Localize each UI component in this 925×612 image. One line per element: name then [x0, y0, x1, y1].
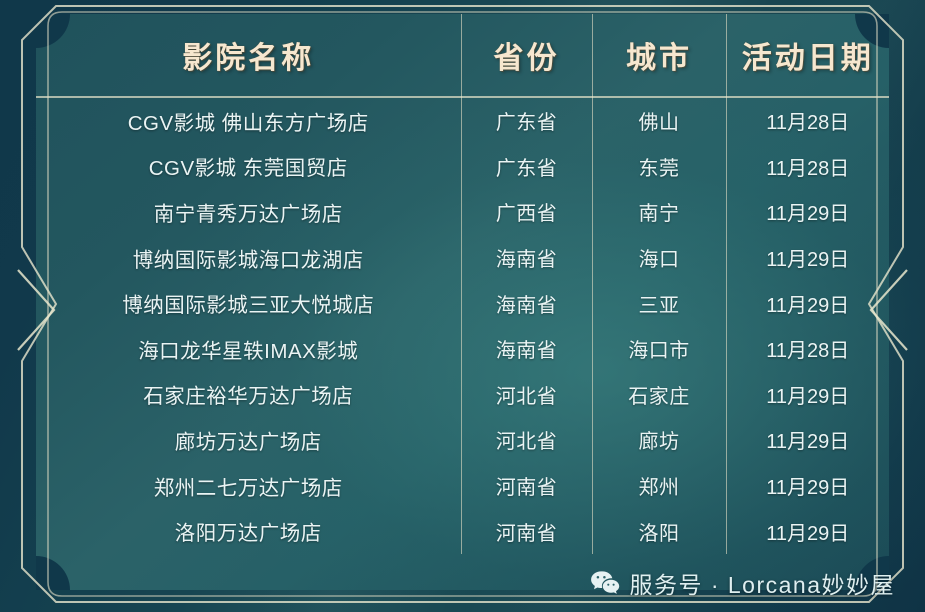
cell-city: 海口	[592, 235, 726, 281]
cell-city: 郑州	[592, 463, 726, 509]
table-row: 博纳国际影城三亚大悦城店 海南省 三亚 11月29日	[36, 280, 889, 326]
cell-province: 广东省	[461, 144, 592, 190]
table-row: 南宁青秀万达广场店 广西省 南宁 11月29日	[36, 189, 889, 235]
cell-city: 海口市	[592, 326, 726, 372]
table-row: 廊坊万达广场店 河北省 廊坊 11月29日	[36, 417, 889, 463]
cell-city: 洛阳	[592, 508, 726, 554]
cell-province: 海南省	[461, 326, 592, 372]
cell-cinema-name: 博纳国际影城三亚大悦城店	[36, 280, 461, 326]
table-header: 影院名称 省份 城市 活动日期	[36, 14, 889, 97]
cell-city: 佛山	[592, 97, 726, 144]
cell-cinema-name: CGV影城 东莞国贸店	[36, 144, 461, 190]
cell-province: 河北省	[461, 417, 592, 463]
cell-event-date: 11月29日	[726, 235, 889, 281]
cell-cinema-name: 洛阳万达广场店	[36, 508, 461, 554]
column-header-city: 城市	[592, 14, 726, 97]
cell-province: 海南省	[461, 235, 592, 281]
table-row: 石家庄裕华万达广场店 河北省 石家庄 11月29日	[36, 372, 889, 418]
table-row: 郑州二七万达广场店 河南省 郑州 11月29日	[36, 463, 889, 509]
cell-cinema-name: 廊坊万达广场店	[36, 417, 461, 463]
table-row: 博纳国际影城海口龙湖店 海南省 海口 11月29日	[36, 235, 889, 281]
cell-event-date: 11月28日	[726, 326, 889, 372]
cell-event-date: 11月29日	[726, 463, 889, 509]
table-header-row: 影院名称 省份 城市 活动日期	[36, 14, 889, 97]
cell-event-date: 11月29日	[726, 417, 889, 463]
cell-city: 东莞	[592, 144, 726, 190]
cell-cinema-name: CGV影城 佛山东方广场店	[36, 97, 461, 144]
cell-event-date: 11月28日	[726, 144, 889, 190]
cell-cinema-name: 南宁青秀万达广场店	[36, 189, 461, 235]
cell-event-date: 11月29日	[726, 280, 889, 326]
cell-cinema-name: 博纳国际影城海口龙湖店	[36, 235, 461, 281]
cell-city: 三亚	[592, 280, 726, 326]
table-row: 海口龙华星轶IMAX影城 海南省 海口市 11月28日	[36, 326, 889, 372]
cell-city: 南宁	[592, 189, 726, 235]
cell-event-date: 11月28日	[726, 97, 889, 144]
table-row: CGV影城 东莞国贸店 广东省 东莞 11月28日	[36, 144, 889, 190]
cell-province: 广西省	[461, 189, 592, 235]
column-header-province: 省份	[461, 14, 592, 97]
cell-province: 河南省	[461, 508, 592, 554]
cell-city: 廊坊	[592, 417, 726, 463]
cell-cinema-name: 郑州二七万达广场店	[36, 463, 461, 509]
cell-province: 海南省	[461, 280, 592, 326]
column-header-cinema-name: 影院名称	[36, 14, 461, 97]
poster-root: 影院名称 省份 城市 活动日期 CGV影城 佛山东方广场店 广东省 佛山 11月…	[0, 0, 925, 612]
cell-province: 广东省	[461, 97, 592, 144]
cell-event-date: 11月29日	[726, 189, 889, 235]
wechat-icon	[590, 570, 620, 596]
cell-city: 石家庄	[592, 372, 726, 418]
cell-province: 河南省	[461, 463, 592, 509]
cell-event-date: 11月29日	[726, 508, 889, 554]
schedule-table-container: 影院名称 省份 城市 活动日期 CGV影城 佛山东方广场店 广东省 佛山 11月…	[36, 14, 889, 590]
cell-event-date: 11月29日	[726, 372, 889, 418]
watermark: 服务号 · Lorcana妙妙屋	[590, 566, 895, 600]
table-row: CGV影城 佛山东方广场店 广东省 佛山 11月28日	[36, 97, 889, 144]
column-header-event-date: 活动日期	[726, 14, 889, 97]
cell-cinema-name: 石家庄裕华万达广场店	[36, 372, 461, 418]
table-row: 洛阳万达广场店 河南省 洛阳 11月29日	[36, 508, 889, 554]
cell-province: 河北省	[461, 372, 592, 418]
table-body: CGV影城 佛山东方广场店 广东省 佛山 11月28日 CGV影城 东莞国贸店 …	[36, 97, 889, 554]
watermark-text: 服务号 · Lorcana妙妙屋	[629, 566, 895, 600]
cinema-schedule-table: 影院名称 省份 城市 活动日期 CGV影城 佛山东方广场店 广东省 佛山 11月…	[36, 14, 889, 554]
cell-cinema-name: 海口龙华星轶IMAX影城	[36, 326, 461, 372]
